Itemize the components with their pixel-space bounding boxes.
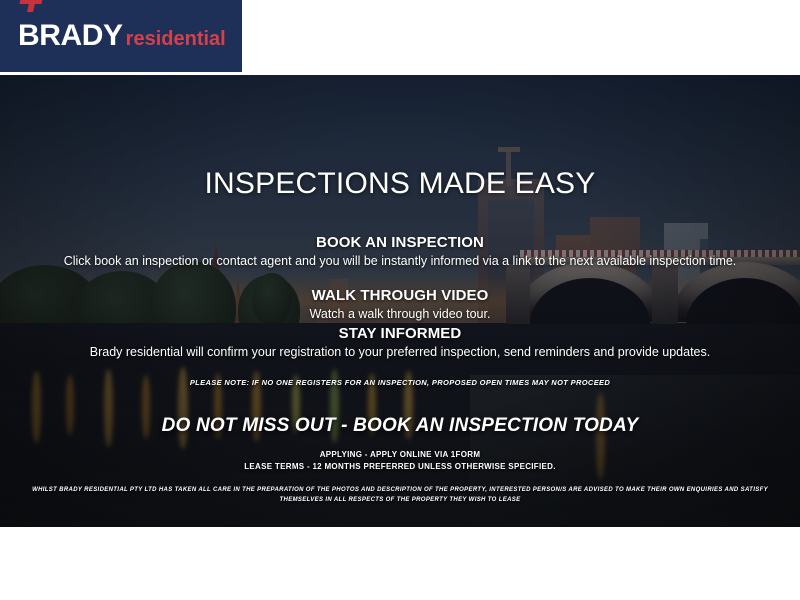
section-body: Brady residential will confirm your regi… <box>0 344 800 361</box>
section-body: Click book an inspection or contact agen… <box>0 253 800 270</box>
please-note-text: PLEASE NOTE: IF NO ONE REGISTERS FOR AN … <box>0 378 800 387</box>
section-heading: WALK THROUGH VIDEO <box>0 286 800 306</box>
logo-lockup: BRADY residential <box>18 21 226 51</box>
applying-line-1: APPLYING - APPLY ONLINE VIA 1FORM <box>0 449 800 461</box>
brand-subtitle: residential <box>126 29 226 49</box>
section-body: Watch a walk through video tour. <box>0 306 800 323</box>
screenshot-canvas: INSPECTIONS MADE EASY BOOK AN INSPECTION… <box>0 0 800 600</box>
call-to-action-text: DO NOT MISS OUT - BOOK AN INSPECTION TOD… <box>0 415 800 437</box>
applying-info: APPLYING - APPLY ONLINE VIA 1FORM LEASE … <box>0 449 800 474</box>
section-walk-through-video: WALK THROUGH VIDEO Watch a walk through … <box>0 286 800 323</box>
hero-text-overlay: INSPECTIONS MADE EASY BOOK AN INSPECTION… <box>0 75 800 527</box>
brand-name: BRADY <box>18 21 123 51</box>
section-stay-informed: STAY INFORMED Brady residential will con… <box>0 324 800 361</box>
section-heading: STAY INFORMED <box>0 324 800 344</box>
section-heading: BOOK AN INSPECTION <box>0 233 800 253</box>
brady-flag-icon <box>20 0 42 11</box>
applying-line-2: LEASE TERMS - 12 MONTHS PREFERRED UNLESS… <box>0 461 800 473</box>
section-book-an-inspection: BOOK AN INSPECTION Click book an inspect… <box>0 233 800 270</box>
brady-logo-block[interactable]: BRADY residential <box>0 0 242 72</box>
legal-disclaimer: WHILST BRADY RESIDENTIAL PTY LTD HAS TAK… <box>0 485 800 505</box>
page-headline: INSPECTIONS MADE EASY <box>0 167 800 201</box>
